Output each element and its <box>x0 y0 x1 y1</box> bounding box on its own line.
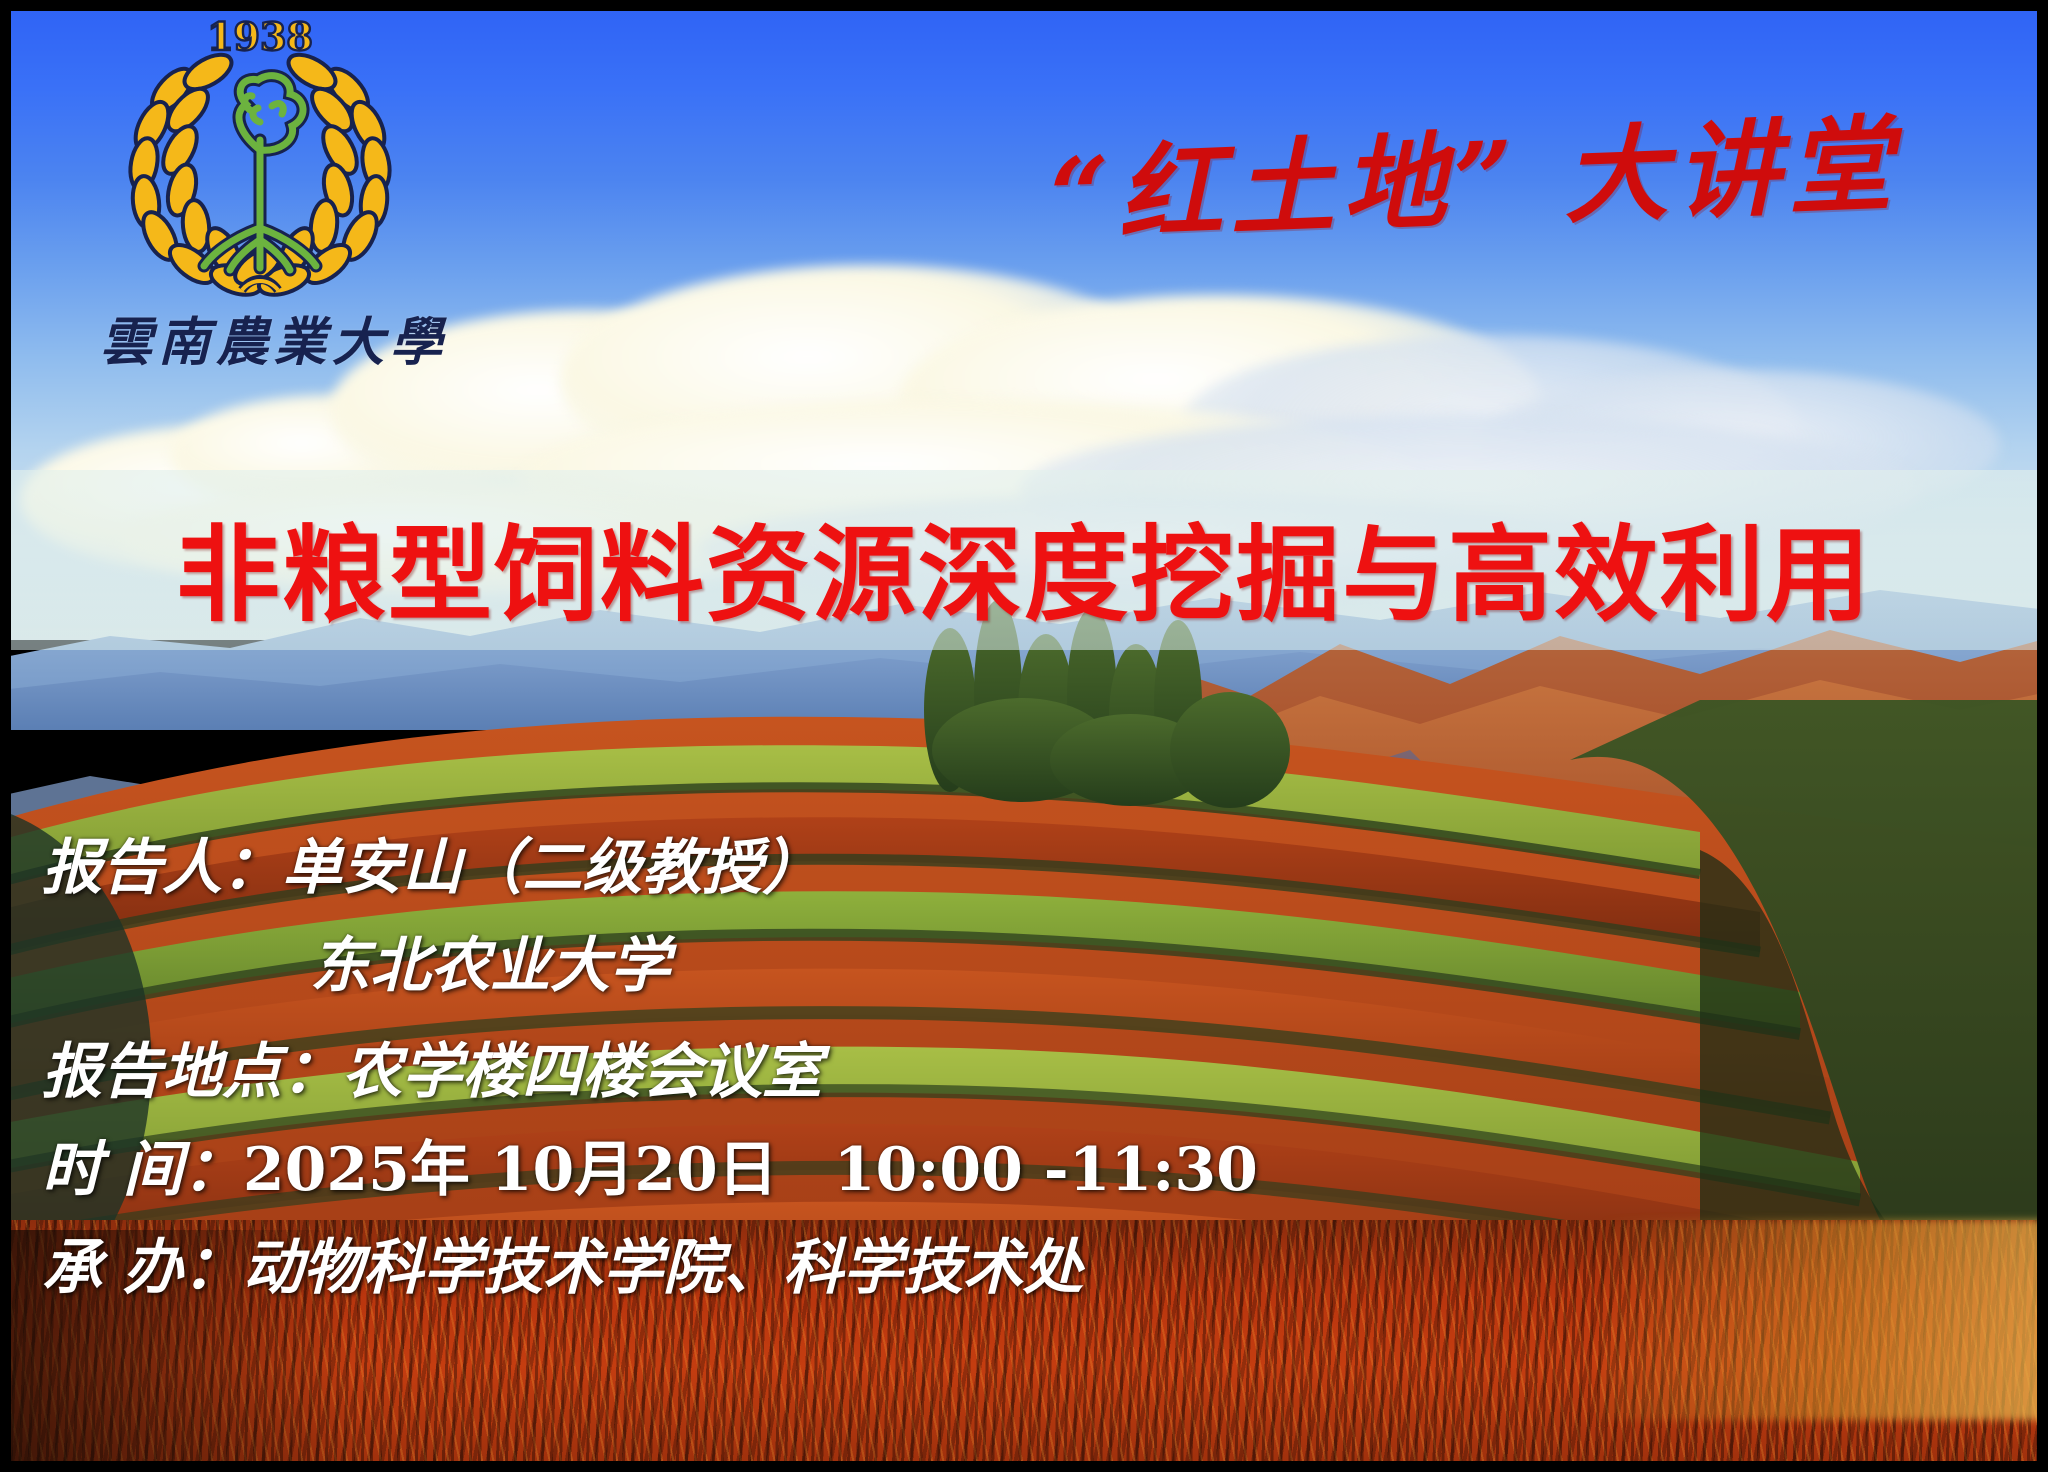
university-emblem-svg: 1938 <box>100 14 420 304</box>
venue-value: 农学楼四楼会议室 <box>342 1037 822 1107</box>
time-range: 10:00 -11:30 <box>834 1135 1258 1205</box>
time-date: 2025年 10月20日 <box>243 1135 778 1205</box>
time-line: 时 间：2025年 10月20日10:00 -11:30 <box>42 1140 1742 1200</box>
emblem-year-text: 1938 <box>207 14 313 59</box>
time-label: 时 间： <box>42 1135 243 1205</box>
speaker-line: 报告人：单安山（二级教授） <box>42 838 1742 898</box>
speaker-affiliation-line: 东北农业大学 <box>42 936 1742 996</box>
venue-line: 报告地点：农学楼四楼会议室 <box>42 1042 1742 1102</box>
venue-label: 报告地点： <box>42 1037 342 1107</box>
host-line: 承 办：动物科学技术学院、科学技术处 <box>42 1238 1742 1298</box>
speaker-affiliation: 东北农业大学 <box>310 931 670 1001</box>
forum-title-main: “红土地” <box>1048 117 1524 258</box>
lecture-poster: 1938 <box>0 0 2048 1472</box>
host-label: 承 办： <box>42 1233 243 1303</box>
university-name-calligraphy: 雲南農業大學 <box>100 300 430 375</box>
host-value: 动物科学技术学院、科学技术处 <box>243 1233 1083 1303</box>
speaker-name: 单安山（二级教授） <box>282 833 822 903</box>
lecture-title: 非粮型饲料资源深度挖掘与高效利用 <box>0 490 2048 641</box>
university-logo: 1938 <box>100 14 420 364</box>
speaker-label: 报告人： <box>42 833 282 903</box>
forum-title-sub: 大讲堂 <box>1561 102 1901 238</box>
lecture-details: 报告人：单安山（二级教授） 东北农业大学 报告地点：农学楼四楼会议室 时 间：2… <box>42 838 1742 1336</box>
